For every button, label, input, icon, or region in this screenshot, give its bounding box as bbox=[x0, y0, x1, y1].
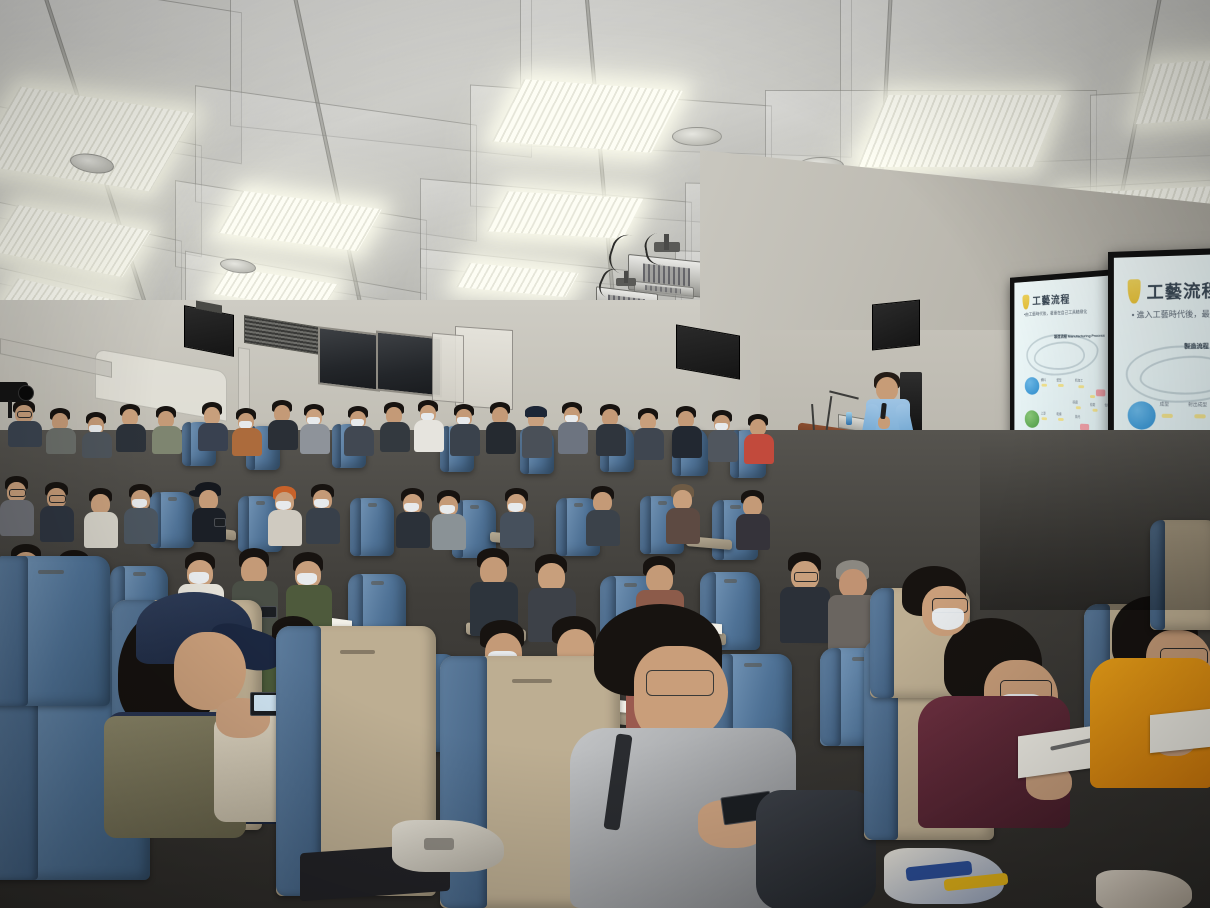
trousers bbox=[756, 790, 876, 908]
flow-connector bbox=[1162, 414, 1173, 418]
flow-connector bbox=[1076, 406, 1081, 409]
slide-bullet: •由工藝時代後，著重在自己工具精緻化 bbox=[1024, 309, 1087, 318]
ceiling-speaker-icon bbox=[672, 127, 722, 146]
flow-connector bbox=[1194, 414, 1205, 418]
flow-connector bbox=[1042, 417, 1047, 420]
flow-connector bbox=[1090, 395, 1095, 398]
lecture-hall-photo: 工藝流程 •由工藝時代後，著重在自己工具精緻化 製造流程 Manufacturi… bbox=[0, 0, 1210, 908]
aisle-shadow bbox=[980, 430, 1210, 610]
flow-connector bbox=[1093, 409, 1098, 412]
water-bottle[interactable] bbox=[846, 412, 852, 425]
slide-diagram-caption: 製造流程 Manufacturing Process bbox=[1054, 333, 1105, 340]
flow-step-label: 成型 bbox=[1160, 402, 1169, 408]
flow-step-label: 拋光 bbox=[1075, 414, 1080, 419]
flow-connector bbox=[1042, 384, 1047, 387]
flow-connector bbox=[1058, 384, 1064, 387]
slide-bullet: • 進入工藝時代後，最 bbox=[1132, 308, 1210, 320]
flow-node-green bbox=[1025, 410, 1039, 428]
presenter-head bbox=[876, 377, 898, 401]
flow-step-label: 精加工 bbox=[1075, 378, 1083, 383]
flow-step-label: 射出成型 bbox=[1188, 402, 1207, 408]
slide-shield-icon bbox=[1023, 295, 1030, 310]
wall-speaker-right bbox=[872, 299, 920, 350]
slide-title: 工藝流程 bbox=[1032, 291, 1070, 308]
flow-step-label: 備料 bbox=[1041, 377, 1046, 382]
eyeglasses bbox=[646, 670, 714, 696]
face-mask bbox=[932, 608, 964, 630]
camera-tripod bbox=[0, 376, 38, 416]
flow-connector bbox=[1058, 418, 1064, 421]
student-grey-hoodie-front bbox=[570, 604, 800, 904]
chair-foreground[interactable] bbox=[0, 556, 110, 706]
ceiling-light bbox=[492, 79, 683, 153]
ceiling-light bbox=[857, 95, 1061, 167]
ceiling-light bbox=[487, 191, 644, 238]
flow-step-label: 研磨 bbox=[1073, 399, 1078, 404]
student-back-glasses bbox=[888, 566, 988, 676]
flow-connector bbox=[1078, 385, 1084, 388]
flow-chip-pink bbox=[1096, 389, 1105, 396]
worksheet bbox=[1150, 709, 1210, 753]
flow-step-label: 塑型 bbox=[1056, 377, 1061, 382]
sneaker-logo bbox=[424, 838, 454, 850]
slide-diagram-caption: 製造流程 bbox=[1184, 341, 1209, 350]
flow-step-label: 乾燥 bbox=[1056, 411, 1061, 416]
flow-step-label: 上漆 bbox=[1041, 411, 1046, 416]
flow-node-blue bbox=[1025, 377, 1039, 395]
slide-shield-icon bbox=[1128, 279, 1141, 303]
flow-node-blue bbox=[1128, 401, 1156, 430]
slide-title: 工藝流程 bbox=[1147, 276, 1210, 303]
flow-step-label: 檢驗 bbox=[1090, 402, 1095, 407]
